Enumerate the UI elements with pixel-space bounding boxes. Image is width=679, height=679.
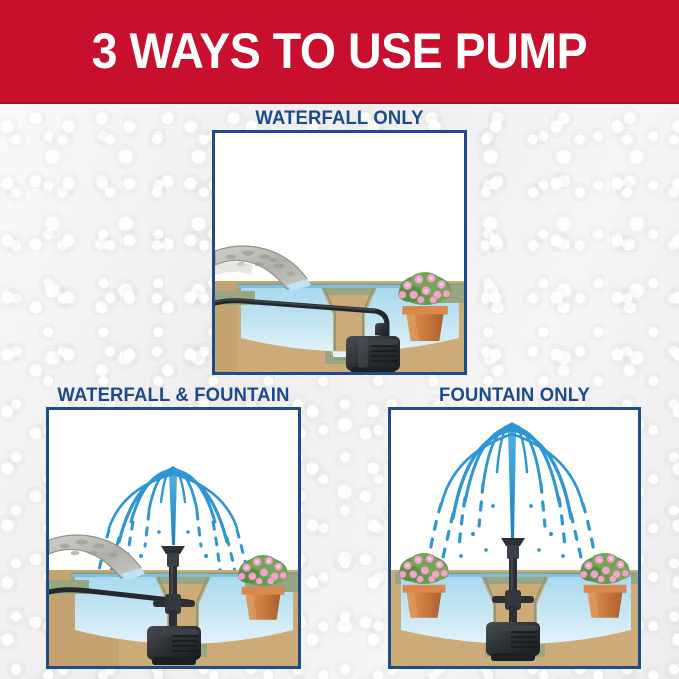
terracotta-pot [403, 585, 446, 618]
panel-waterfall-and-fountain: WATERFALL & FOUNTAIN [46, 385, 301, 669]
panel-title-fountain-only: FOUNTAIN ONLY [392, 385, 637, 407]
panel-waterfall-only: WATERFALL ONLY [212, 108, 467, 375]
panel-fountain-only: FOUNTAIN ONLY [388, 385, 641, 669]
terracotta-pot [402, 306, 447, 341]
page-title: 3 WAYS TO USE PUMP [92, 22, 588, 80]
illustration-waterfall-and-fountain [49, 410, 298, 666]
terracotta-pot [584, 585, 627, 618]
pump-unit [147, 626, 201, 665]
panel-frame-waterfall-only [212, 130, 467, 375]
illustration-fountain-only [391, 410, 638, 666]
header-banner: 3 WAYS TO USE PUMP [0, 0, 679, 104]
panel-title-waterfall-and-fountain: WATERFALL & FOUNTAIN [50, 385, 297, 407]
panel-title-waterfall-only: WATERFALL ONLY [216, 108, 463, 130]
panel-frame-waterfall-and-fountain [46, 407, 301, 669]
pump-unit [486, 622, 540, 661]
terracotta-pot [242, 587, 285, 620]
panel-frame-fountain-only [388, 407, 641, 669]
illustration-waterfall-only [215, 133, 464, 372]
